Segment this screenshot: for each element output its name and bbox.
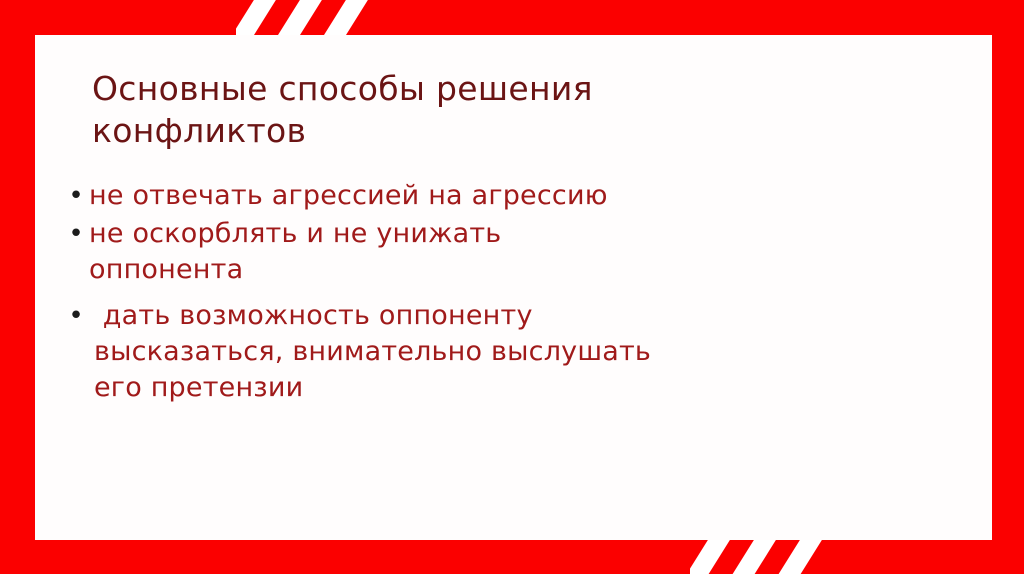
list-item-text: не оскорблять и не унижать оппонента: [89, 216, 923, 288]
list-item: • не оскорблять и не унижать оппонента: [63, 216, 923, 288]
bullet-dot-icon: •: [63, 178, 89, 214]
bullet-dot-icon: •: [63, 216, 89, 252]
bullet-dot-icon: •: [63, 298, 89, 334]
slide-canvas: Основные способы решения конфликтов • не…: [0, 0, 1024, 574]
slide-content-area: Основные способы решения конфликтов • не…: [35, 35, 992, 540]
list-item: • дать возможность оппоненту высказаться…: [63, 298, 923, 406]
list-item-text: дать возможность оппоненту высказаться, …: [89, 298, 923, 406]
frame-band-right: [992, 0, 1024, 574]
slide-title: Основные способы решения конфликтов: [92, 68, 712, 152]
list-item: • не отвечать агрессией на агрессию: [63, 178, 923, 214]
frame-band-bottom: [0, 540, 1024, 574]
frame-band-top: [0, 0, 1024, 35]
bullet-list: • не отвечать агрессией на агрессию • не…: [63, 178, 923, 408]
list-item-text: не отвечать агрессией на агрессию: [89, 178, 923, 214]
frame-band-left: [0, 0, 35, 574]
